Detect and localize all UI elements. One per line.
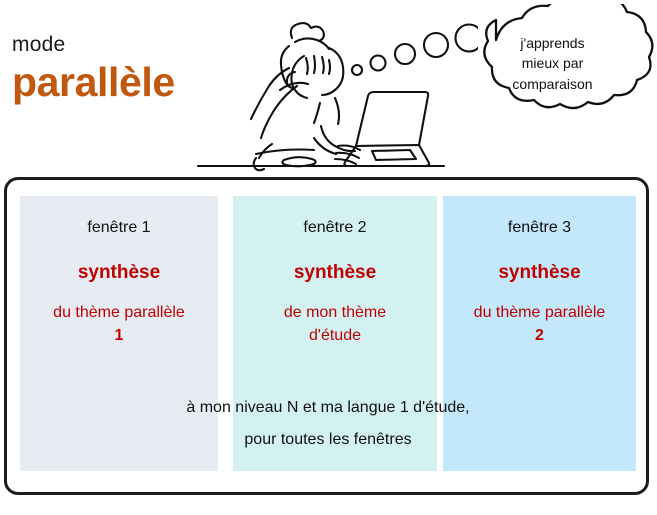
synthese-label-1: synthèse bbox=[20, 262, 218, 285]
mode-label: mode bbox=[12, 34, 222, 56]
window-label-2: fenêtre 2 bbox=[233, 218, 437, 237]
subject-text-2: de mon thème d'étude bbox=[233, 301, 437, 347]
window-label-3: fenêtre 3 bbox=[443, 218, 636, 237]
page-title: parallèle bbox=[12, 60, 222, 106]
subject-number-3: 2 bbox=[443, 324, 636, 347]
subject-number-1: 1 bbox=[20, 324, 218, 347]
window-column-3: fenêtre 3 synthèse du thème parallèle 2 bbox=[443, 196, 636, 471]
window-column-2: fenêtre 2 synthèse de mon thème d'étude bbox=[233, 196, 437, 471]
subject-text-1: du thème parallèle bbox=[20, 301, 218, 324]
title-block: mode parallèle bbox=[12, 34, 222, 106]
thought-bubble-text: j'apprends mieux par comparaison bbox=[470, 33, 635, 94]
window-column-1: fenêtre 1 synthèse du thème parallèle 1 bbox=[20, 196, 218, 471]
subject-text-3: du thème parallèle bbox=[443, 301, 636, 324]
synthese-label-3: synthèse bbox=[443, 262, 636, 285]
synthese-label-2: synthèse bbox=[233, 262, 437, 285]
window-label-1: fenêtre 1 bbox=[20, 218, 218, 237]
header-area: mode parallèle bbox=[0, 0, 657, 175]
